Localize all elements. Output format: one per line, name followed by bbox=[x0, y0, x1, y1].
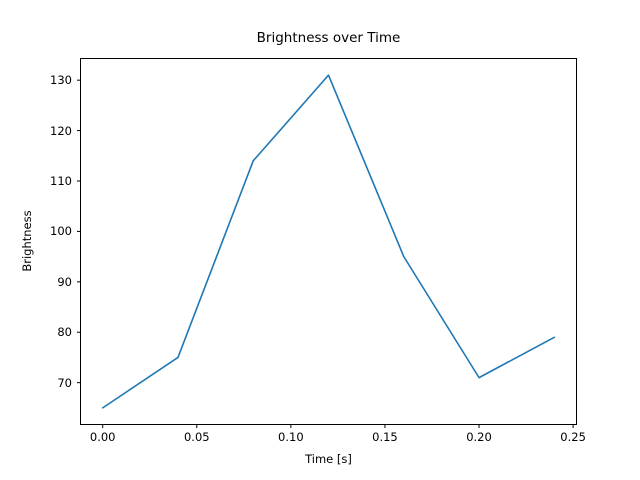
axes-frame bbox=[81, 59, 577, 425]
data-series-line bbox=[103, 75, 555, 408]
plot-canvas bbox=[0, 0, 640, 480]
chart-figure: Brightness over Time Brightness Time [s]… bbox=[0, 0, 640, 480]
